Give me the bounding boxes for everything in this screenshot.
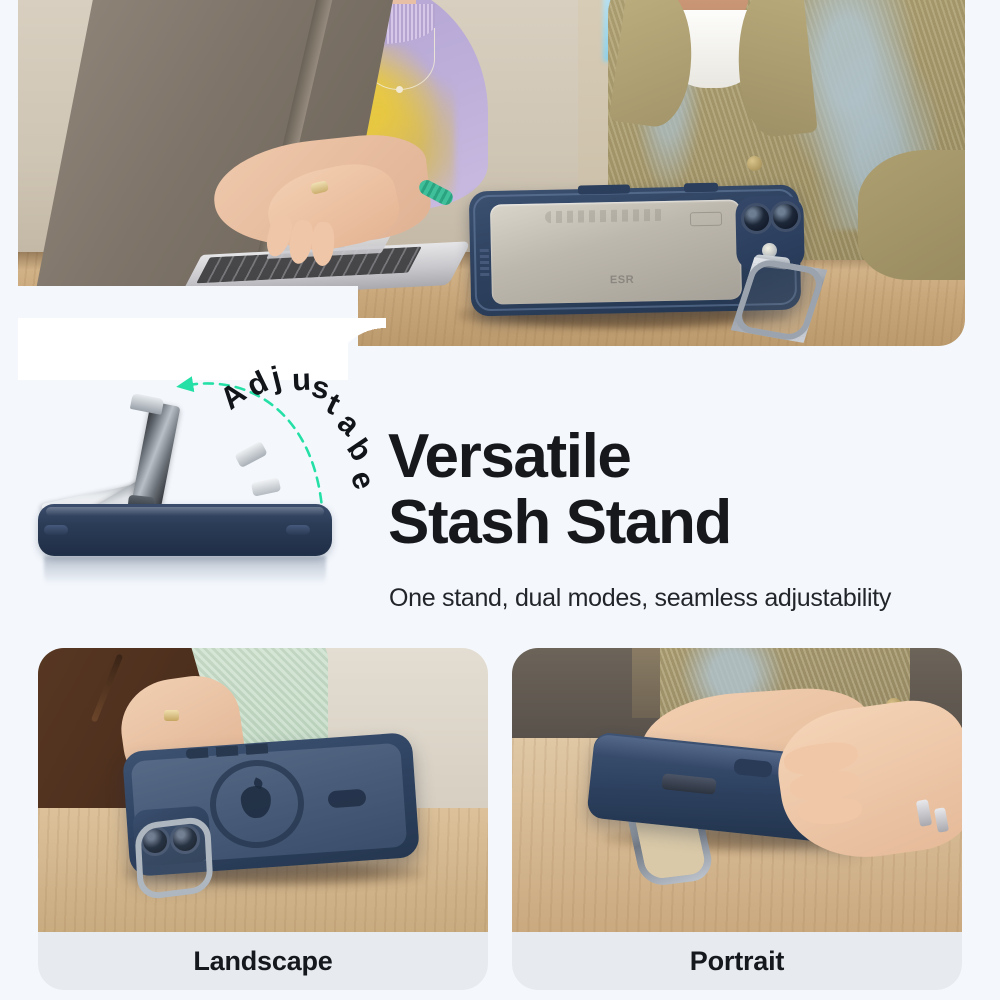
adjustable-label: A d j u s t a b e xyxy=(216,352,386,512)
caption-label: Landscape xyxy=(193,946,332,977)
caption-label: Portrait xyxy=(690,946,784,977)
person-ring xyxy=(164,710,179,721)
panel-portrait-photo xyxy=(512,648,962,932)
ring-stand xyxy=(134,815,213,900)
page-subtitle: One stand, dual modes, seamless adjustab… xyxy=(389,584,989,613)
woman-pendant xyxy=(396,86,403,93)
panel-portrait-caption: Portrait xyxy=(512,932,962,990)
case-volume-buttons xyxy=(578,184,630,194)
panel-landscape: Landscape xyxy=(38,648,488,990)
page-title: Versatile Stash Stand xyxy=(388,424,988,555)
man-cardigan-button xyxy=(747,156,762,171)
hero-photo-panel: ESR xyxy=(18,0,965,346)
panel-landscape-photo xyxy=(38,648,488,932)
case-accent-pill xyxy=(327,789,366,809)
panel-portrait: Portrait xyxy=(512,648,962,990)
power-bank-notch-right xyxy=(286,525,310,535)
hero-photo-image: ESR xyxy=(18,0,965,346)
power-bank-badge xyxy=(690,212,722,227)
esr-logo: ESR xyxy=(610,274,636,289)
power-bank-reflection xyxy=(44,556,326,594)
adjustable-stand-diagram: A d j u s t a b e xyxy=(20,352,380,622)
adjustable-letter: u xyxy=(291,362,311,399)
headline-line-2: Stash Stand xyxy=(388,488,731,557)
power-bank-notch-left xyxy=(44,525,68,535)
case-power-button xyxy=(684,183,718,193)
power-bank-highlight xyxy=(46,507,324,516)
man-arm xyxy=(858,150,965,280)
panel-landscape-caption: Landscape xyxy=(38,932,488,990)
page-root: ESR A xyxy=(0,0,1000,1000)
adjustable-letter: e xyxy=(343,466,383,495)
headline-line-1: Versatile xyxy=(388,422,630,491)
case-side-vents xyxy=(480,248,490,276)
power-bank-print xyxy=(545,209,665,224)
